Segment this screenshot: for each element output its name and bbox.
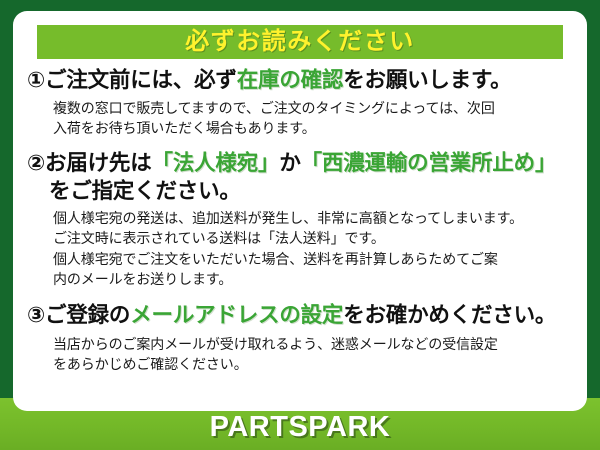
section-3-heading: ③ご登録のメールアドレスの設定をお確かめください。 [27, 302, 573, 330]
section-2-heading-part-3: か [279, 151, 300, 175]
section-2-body-line-4: 内のメールをお送りします。 [53, 269, 573, 289]
brand-logo: PARTSPARK [0, 411, 600, 444]
section-1-marker: ① [27, 68, 45, 92]
notice-section-2: ②お届け先は「法人様宛」か「西濃運輸の営業所止め」 をご指定ください。 個人様宅… [27, 150, 573, 289]
section-3-body-line-1: 当店からのご案内メールが受け取れるよう、迷惑メールなどの受信設定 [53, 334, 573, 354]
section-2-heading-continuation: をご指定ください。 [27, 178, 573, 206]
section-2-heading-part-1: お届け先は [45, 151, 152, 175]
section-3-heading-highlight: メールアドレスの設定 [130, 303, 343, 327]
section-1-heading-part-1: ご注文前には、必ず [45, 68, 237, 92]
notice-section-1: ①ご注文前には、必ず在庫の確認をお願いします。 複数の窓口で販売してますので、ご… [27, 67, 573, 138]
white-card: 必ずお読みください ①ご注文前には、必ず在庫の確認をお願いします。 複数の窓口で… [13, 11, 587, 411]
banner-title: 必ずお読みください [185, 30, 415, 54]
section-3-body-line-2: をあらかじめご確認ください。 [53, 354, 573, 374]
section-1-heading-highlight: 在庫の確認 [237, 68, 344, 92]
section-2-heading-highlight-1: 「法人様宛」 [152, 151, 280, 175]
section-2-heading-highlight-2: 「西濃運輸の営業所止め」 [301, 151, 557, 175]
section-1-body-line-2: 入荷をお待ち頂いただく場合もあります。 [53, 118, 573, 138]
section-1-body: 複数の窓口で販売してますので、ご注文のタイミングによっては、次回 入荷をお待ち頂… [27, 98, 573, 139]
section-2-body-line-1: 個人様宅宛の発送は、追加送料が発生し、非常に高額となってしまいます。 [53, 208, 573, 228]
section-2-body: 個人様宅宛の発送は、追加送料が発生し、非常に高額となってしまいます。 ご注文時に… [27, 208, 573, 289]
section-2-body-line-3: 個人様宅宛でご注文をいただいた場合、送料を再計算しあらためてご案 [53, 249, 573, 269]
section-2-body-line-2: ご注文時に表示されている送料は「法人送料」です。 [53, 228, 573, 248]
section-1-body-line-1: 複数の窓口で販売してますので、ご注文のタイミングによっては、次回 [53, 98, 573, 118]
section-3-body: 当店からのご案内メールが受け取れるよう、迷惑メールなどの受信設定 をあらかじめご… [27, 334, 573, 375]
header-banner: 必ずお読みください [37, 25, 563, 59]
notice-card-root: 必ずお読みください ①ご注文前には、必ず在庫の確認をお願いします。 複数の窓口で… [0, 0, 600, 450]
section-3-marker: ③ [27, 303, 45, 327]
section-2-marker: ② [27, 151, 45, 175]
sections-container: ①ご注文前には、必ず在庫の確認をお願いします。 複数の窓口で販売してますので、ご… [13, 67, 587, 376]
section-3-heading-part-1: ご登録の [45, 303, 130, 327]
section-1-heading: ①ご注文前には、必ず在庫の確認をお願いします。 [27, 67, 573, 95]
notice-section-3: ③ご登録のメールアドレスの設定をお確かめください。 当店からのご案内メールが受け… [27, 302, 573, 374]
section-3-heading-part-3: をお確かめください。 [343, 303, 556, 327]
section-2-heading: ②お届け先は「法人様宛」か「西濃運輸の営業所止め」 [27, 150, 573, 178]
section-1-heading-part-3: をお願いします。 [343, 68, 511, 92]
